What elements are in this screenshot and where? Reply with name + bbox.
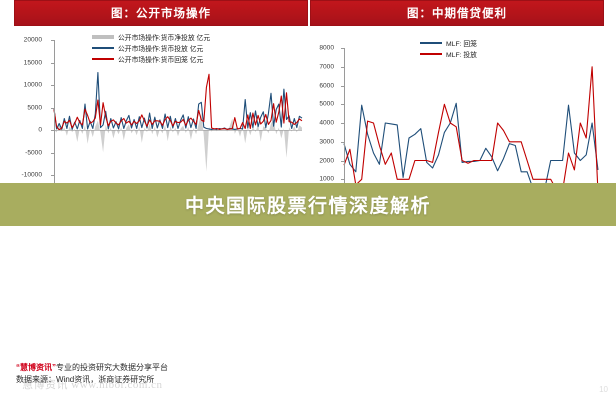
slide-page: 图：公开市场操作 20000150001000050000-5000-10000…: [0, 0, 616, 400]
headline-overlay-band: 中央国际股票行情深度解析: [0, 183, 616, 226]
legend-swatch-icon: [92, 47, 114, 49]
series-line: [344, 67, 598, 193]
site-watermark: 慧博资讯 www.hibor.com.cn: [22, 376, 163, 392]
footer-tagline-line: “慧博资讯”专业的投资研究大数据分享平台: [16, 362, 168, 374]
series-line: [54, 73, 302, 130]
y-axis-line: [54, 40, 55, 198]
legend-item: 公开市场操作:货币投放 亿元: [92, 43, 210, 53]
legend-right: MLF: 回笼MLF: 投放: [420, 38, 477, 60]
legend-label: 公开市场操作:货币投放 亿元: [118, 43, 203, 53]
chart-title-left: 图：公开市场操作: [14, 0, 308, 26]
chart-title-right: 图：中期借贷便利: [310, 0, 604, 26]
legend-label: MLF: 投放: [446, 49, 477, 59]
page-number: 10: [599, 385, 608, 394]
legend-item: MLF: 回笼: [420, 38, 477, 48]
legend-item: 公开市场操作:货币净投放 亿元: [92, 32, 210, 42]
y-axis-line: [344, 48, 345, 198]
legend-swatch-icon: [92, 35, 114, 39]
legend-label: 公开市场操作:货币净投放 亿元: [118, 32, 210, 42]
legend-item: 公开市场操作:货币回笼 亿元: [92, 54, 210, 64]
legend-label: MLF: 回笼: [446, 38, 477, 48]
headline-text: 中央国际股票行情深度解析: [185, 191, 431, 218]
legend-label: 公开市场操作:货币回笼 亿元: [118, 54, 203, 64]
brand-name: “慧博资讯”: [16, 363, 56, 372]
series-line: [344, 103, 598, 188]
footer-tagline: 专业的投资研究大数据分享平台: [56, 363, 168, 372]
legend-swatch-icon: [92, 58, 114, 60]
legend-item: MLF: 投放: [420, 49, 477, 59]
legend-swatch-icon: [420, 42, 442, 44]
legend-left: 公开市场操作:货币净投放 亿元公开市场操作:货币投放 亿元公开市场操作:货币回笼…: [92, 32, 210, 65]
legend-swatch-icon: [420, 53, 442, 55]
